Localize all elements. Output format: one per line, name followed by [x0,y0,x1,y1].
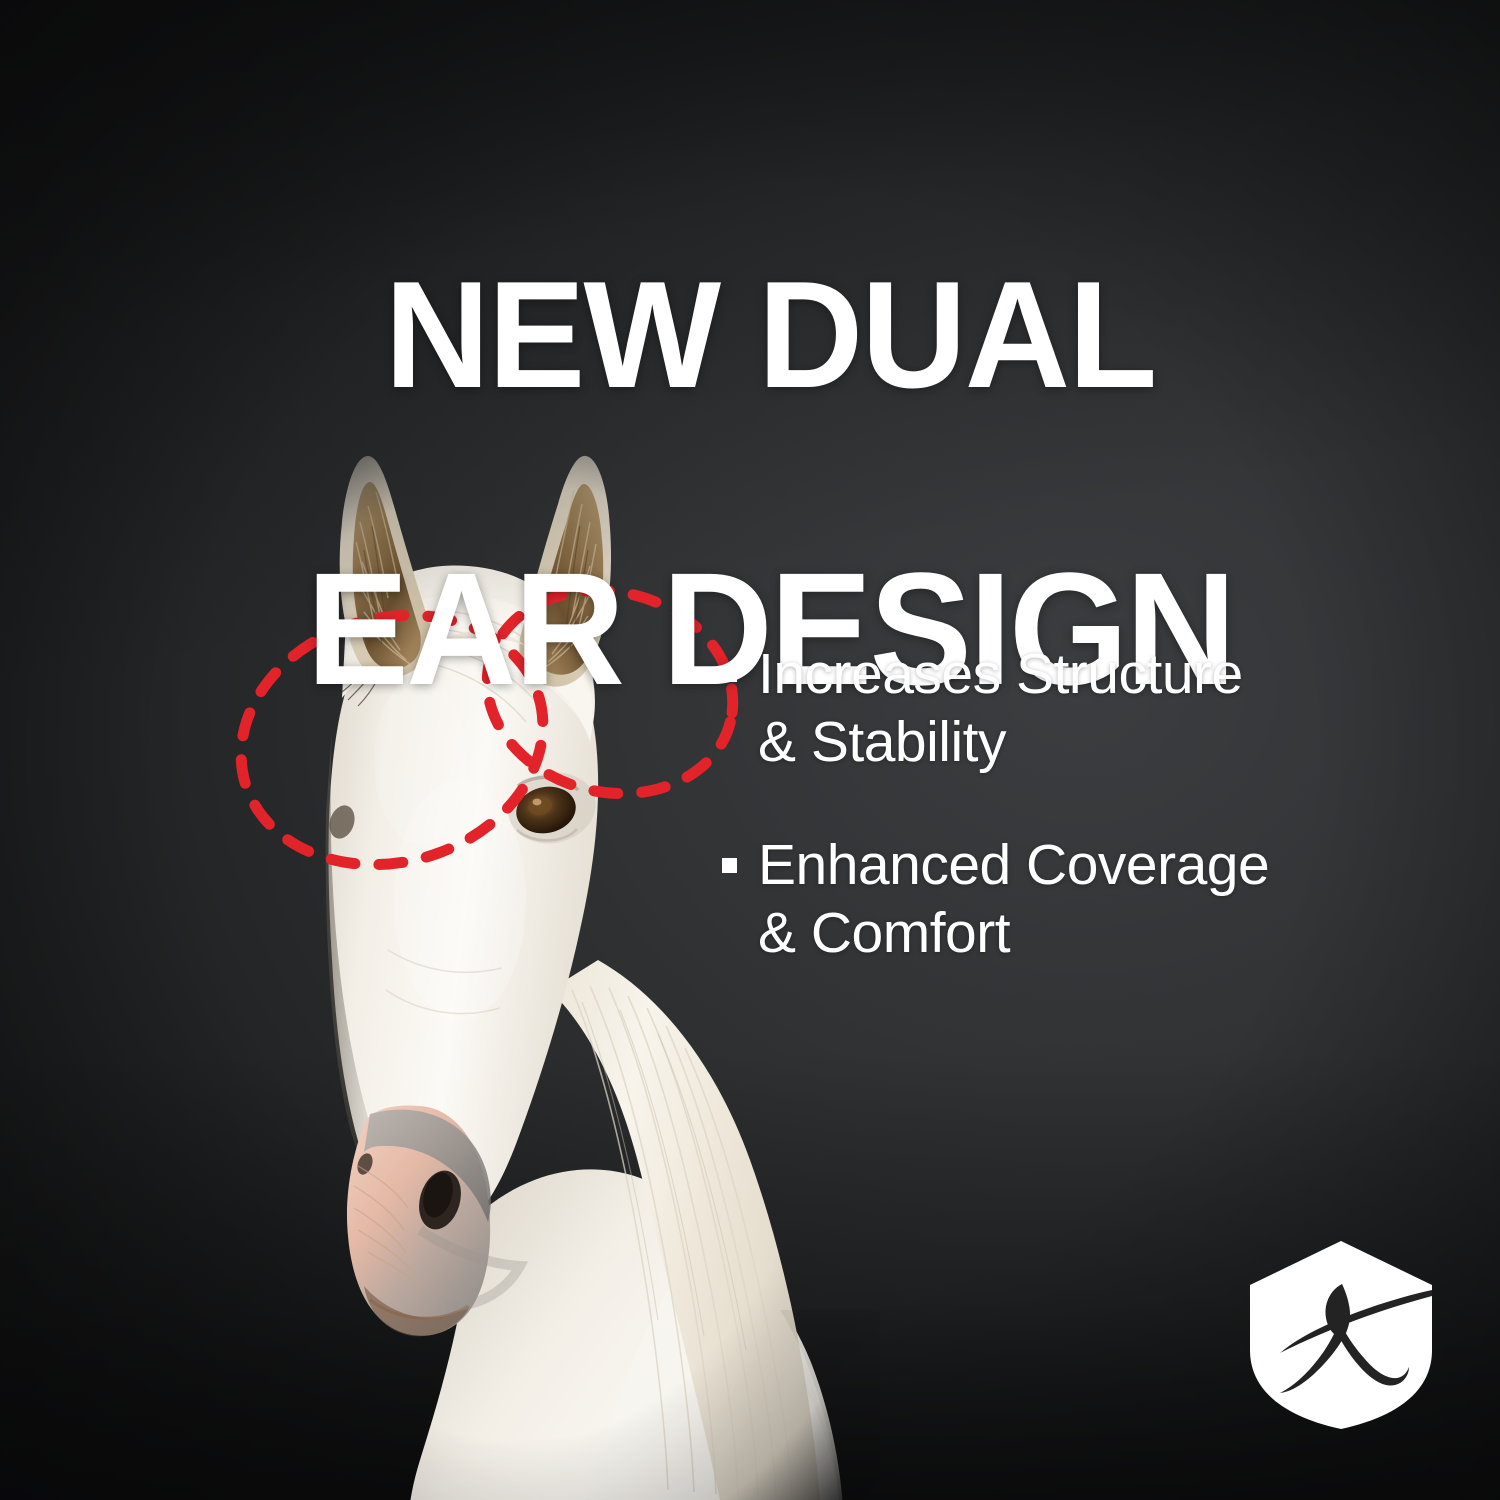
list-item-label: Enhanced Coverage & Comfort [758,831,1269,968]
square-bullet-icon [722,858,737,873]
promo-banner: NEW DUAL EAR DESIGN Increases Structure … [0,0,1500,1500]
list-item-label: Increases Structure & Stability [758,640,1243,777]
list-item: Increases Structure & Stability [722,640,1422,777]
list-item: Enhanced Coverage & Comfort [722,831,1422,968]
square-bullet-icon [722,667,737,682]
headline-line-1: NEW DUAL [300,263,1241,408]
brand-logo [1246,1238,1436,1432]
feature-list: Increases Structure & Stability Enhanced… [722,640,1422,968]
